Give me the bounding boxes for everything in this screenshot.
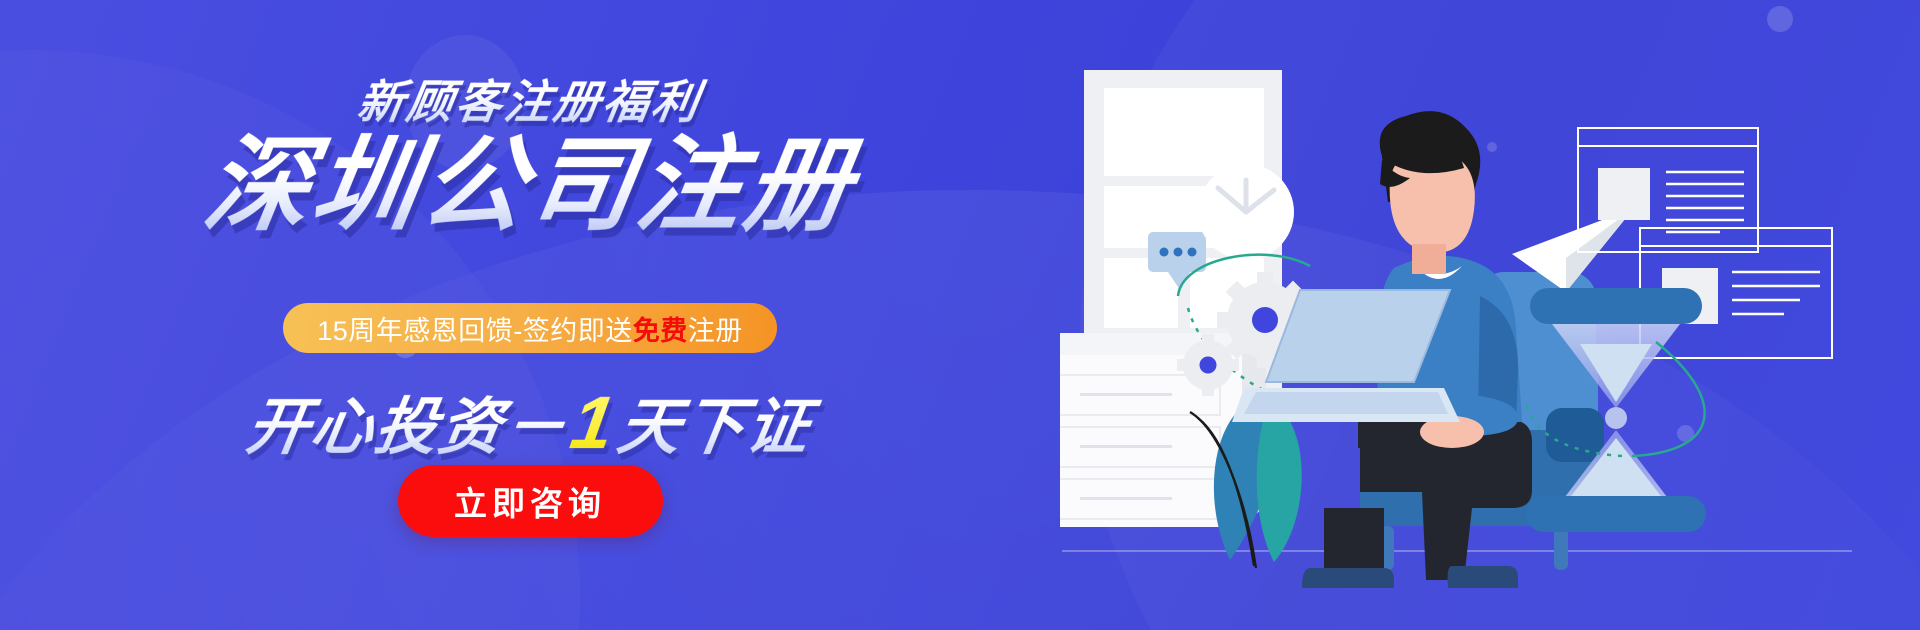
consult-now-button[interactable]: 立即咨询 <box>398 465 663 537</box>
promo-banner: 新顾客注册福利 深圳公司注册 15周年感恩回馈-签约即送 免费 注册 开心投资－… <box>0 0 1920 630</box>
page-title: 深圳公司注册 <box>0 128 1069 244</box>
promo-badge-suffix: 注册 <box>688 309 743 348</box>
promo-badge-row: 15周年感恩回馈-签约即送 免费 注册 <box>0 303 1060 353</box>
promo-badge: 15周年感恩回馈-签约即送 免费 注册 <box>283 303 777 353</box>
subheadline: 开心投资－1天下证 <box>0 376 1067 466</box>
promo-badge-prefix: 15周年感恩回馈-签约即送 <box>317 309 633 348</box>
subheadline-prefix: 开心投资－ <box>242 393 573 462</box>
subheadline-suffix: 天下证 <box>613 393 816 462</box>
illustration <box>1060 0 1920 630</box>
cta-row: 立即咨询 <box>0 465 1060 537</box>
kicker-text: 新顾客注册福利 <box>0 66 1065 132</box>
promo-badge-highlight: 免费 <box>633 309 688 348</box>
clock-icon <box>1198 164 1294 260</box>
copy-block: 新顾客注册福利 深圳公司注册 15周年感恩回馈-签约即送 免费 注册 开心投资－… <box>0 0 1060 630</box>
